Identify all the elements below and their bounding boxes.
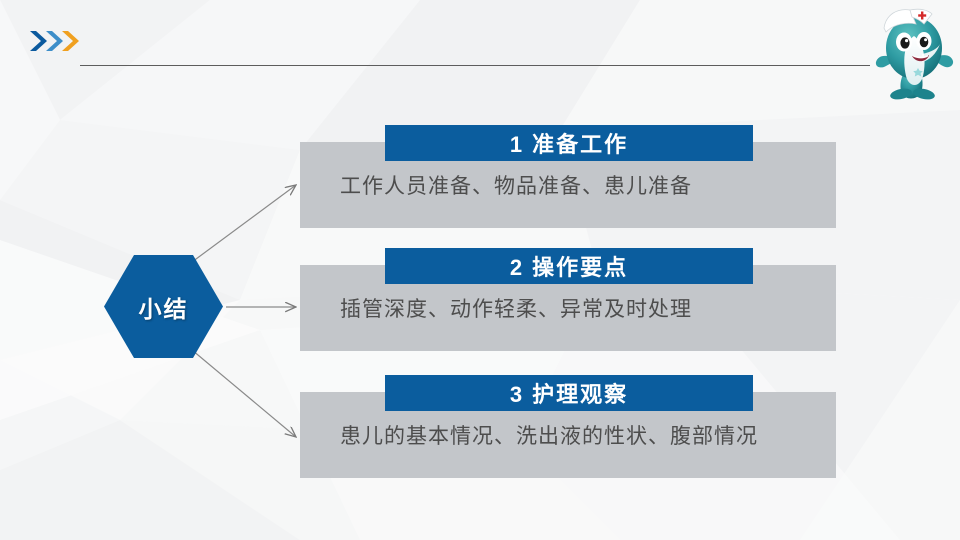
hub-to-item-1-arrow — [192, 185, 296, 262]
hub-to-item-3-arrow — [192, 350, 296, 437]
item-1-title[interactable]: 1 准备工作 — [385, 125, 753, 161]
header-divider-line — [80, 65, 870, 66]
item-2-title[interactable]: 2 操作要点 — [385, 248, 753, 284]
nurse-dolphin-mascot-icon — [872, 2, 956, 102]
triple-chevron-icon — [28, 27, 80, 55]
slide-canvas: 小结 工作人员准备、物品准备、患儿准备 1 准备工作 插管深度、动作轻柔、异常及… — [0, 0, 960, 540]
item-3-title[interactable]: 3 护理观察 — [385, 375, 753, 411]
hub-label: 小结 — [104, 255, 223, 358]
